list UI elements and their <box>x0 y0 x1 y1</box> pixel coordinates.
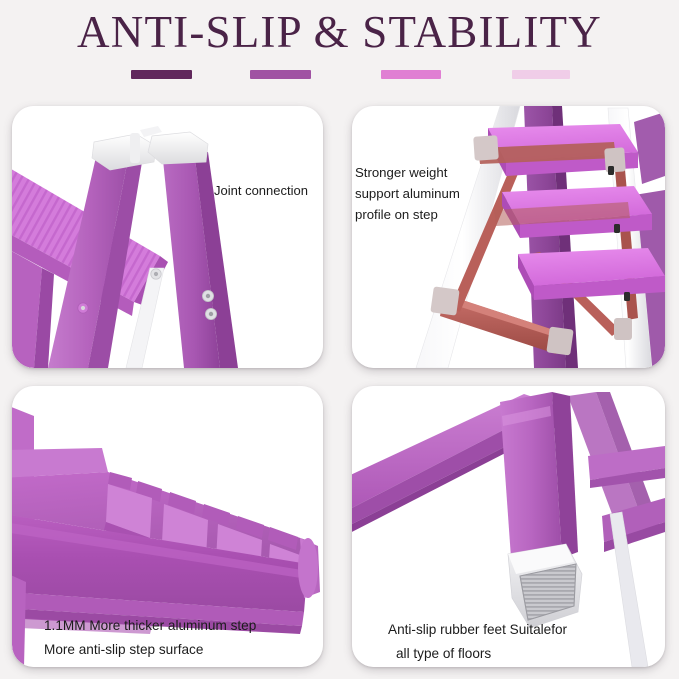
caption-rubber-feet: Anti-slip rubber feet Suitalefor all typ… <box>388 618 567 666</box>
accent-bar-group <box>0 70 679 80</box>
accent-bar-dark-purple <box>131 70 192 79</box>
caption-line: 1.1MM More thicker aluminum step <box>44 614 256 638</box>
caption-line: More anti-slip step surface <box>44 638 256 662</box>
caption-aluminum-profile: Stronger weight support aluminum profile… <box>355 162 460 225</box>
accent-bar-medium-purple <box>250 70 311 79</box>
ladder-joint-illustration <box>12 106 323 368</box>
accent-bar-light-pink <box>512 70 570 79</box>
panel-aluminum-profile <box>352 106 665 368</box>
caption-line: Joint connection <box>214 180 308 201</box>
caption-line: Stronger weight <box>355 162 460 183</box>
product-feature-infographic: ANTI-SLIP & STABILITY <box>0 0 679 679</box>
step-support-profile-illustration <box>352 106 665 368</box>
feature-panel-grid <box>0 99 679 679</box>
caption-joint-connection: Joint connection <box>214 180 308 201</box>
caption-thicker-step: 1.1MM More thicker aluminum step More an… <box>44 614 256 662</box>
caption-line: Anti-slip rubber feet Suitalefor <box>388 618 567 642</box>
caption-line: support aluminum <box>355 183 460 204</box>
caption-line: all type of floors <box>388 642 567 666</box>
panel-aluminum-profile-image <box>352 106 665 368</box>
caption-line: profile on step <box>355 204 460 225</box>
panel-joint-connection-image <box>12 106 323 368</box>
page-title: ANTI-SLIP & STABILITY <box>0 6 679 58</box>
panel-joint-connection <box>12 106 323 368</box>
header: ANTI-SLIP & STABILITY <box>0 0 679 96</box>
accent-bar-orchid <box>381 70 441 79</box>
